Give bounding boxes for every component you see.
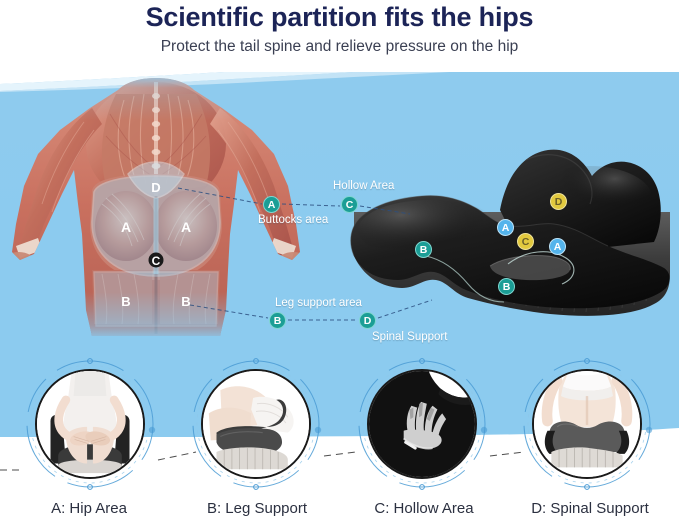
feature-caption-2: B: Leg Support — [172, 500, 342, 517]
cushion-marker-b-1: B — [415, 241, 432, 258]
cushion-marker-c: C — [517, 233, 534, 250]
callout-marker-c: C — [341, 196, 358, 213]
feature-circle-spinal-support[interactable] — [521, 358, 653, 490]
feature-photo-1 — [35, 369, 145, 479]
callout-label-buttocks-area: Buttocks area — [258, 214, 328, 226]
callout-label-hollow-area: Hollow Area — [333, 180, 394, 192]
callout-marker-b: B — [269, 312, 286, 329]
header: Scientific partition fits the hips Prote… — [0, 0, 679, 72]
callout-marker-d: D — [359, 312, 376, 329]
feature-caption-4: D: Spinal Support — [505, 500, 675, 517]
anatomy-letter-d: D — [151, 180, 160, 195]
callout-marker-a: A — [263, 196, 280, 213]
cushion-product-image — [340, 138, 679, 350]
cushion-marker-a-2: A — [549, 238, 566, 255]
anatomy-letter-b-left: B — [121, 294, 130, 309]
cushion-marker-a-1: A — [497, 219, 514, 236]
cushion-marker-d: D — [550, 193, 567, 210]
feature-caption-3: C: Hollow Area — [339, 500, 509, 517]
feature-circle-leg-support[interactable] — [190, 358, 322, 490]
anatomy-illustration: D A A B B C — [6, 74, 306, 339]
feature-photo-2 — [201, 369, 311, 479]
callout-label-leg-support-area: Leg support area — [275, 297, 362, 309]
page-title: Scientific partition fits the hips — [0, 2, 679, 33]
feature-circle-hollow-area[interactable] — [356, 358, 488, 490]
anatomy-letter-b-right: B — [181, 294, 190, 309]
feature-photo-3 — [367, 369, 477, 479]
cushion-marker-b-2: B — [498, 278, 515, 295]
feature-photo-4 — [532, 369, 642, 479]
callout-label-spinal-support: Spinal Support — [372, 331, 447, 343]
page-subtitle: Protect the tail spine and relieve press… — [0, 38, 679, 56]
feature-caption-1: A: Hip Area — [4, 500, 174, 517]
anatomy-letter-a-right: A — [181, 219, 191, 235]
anatomy-letter-a-left: A — [121, 219, 131, 235]
feature-circle-hip-area[interactable] — [24, 358, 156, 490]
svg-text:C: C — [152, 254, 161, 268]
infographic-page: Scientific partition fits the hips Prote… — [0, 0, 679, 527]
